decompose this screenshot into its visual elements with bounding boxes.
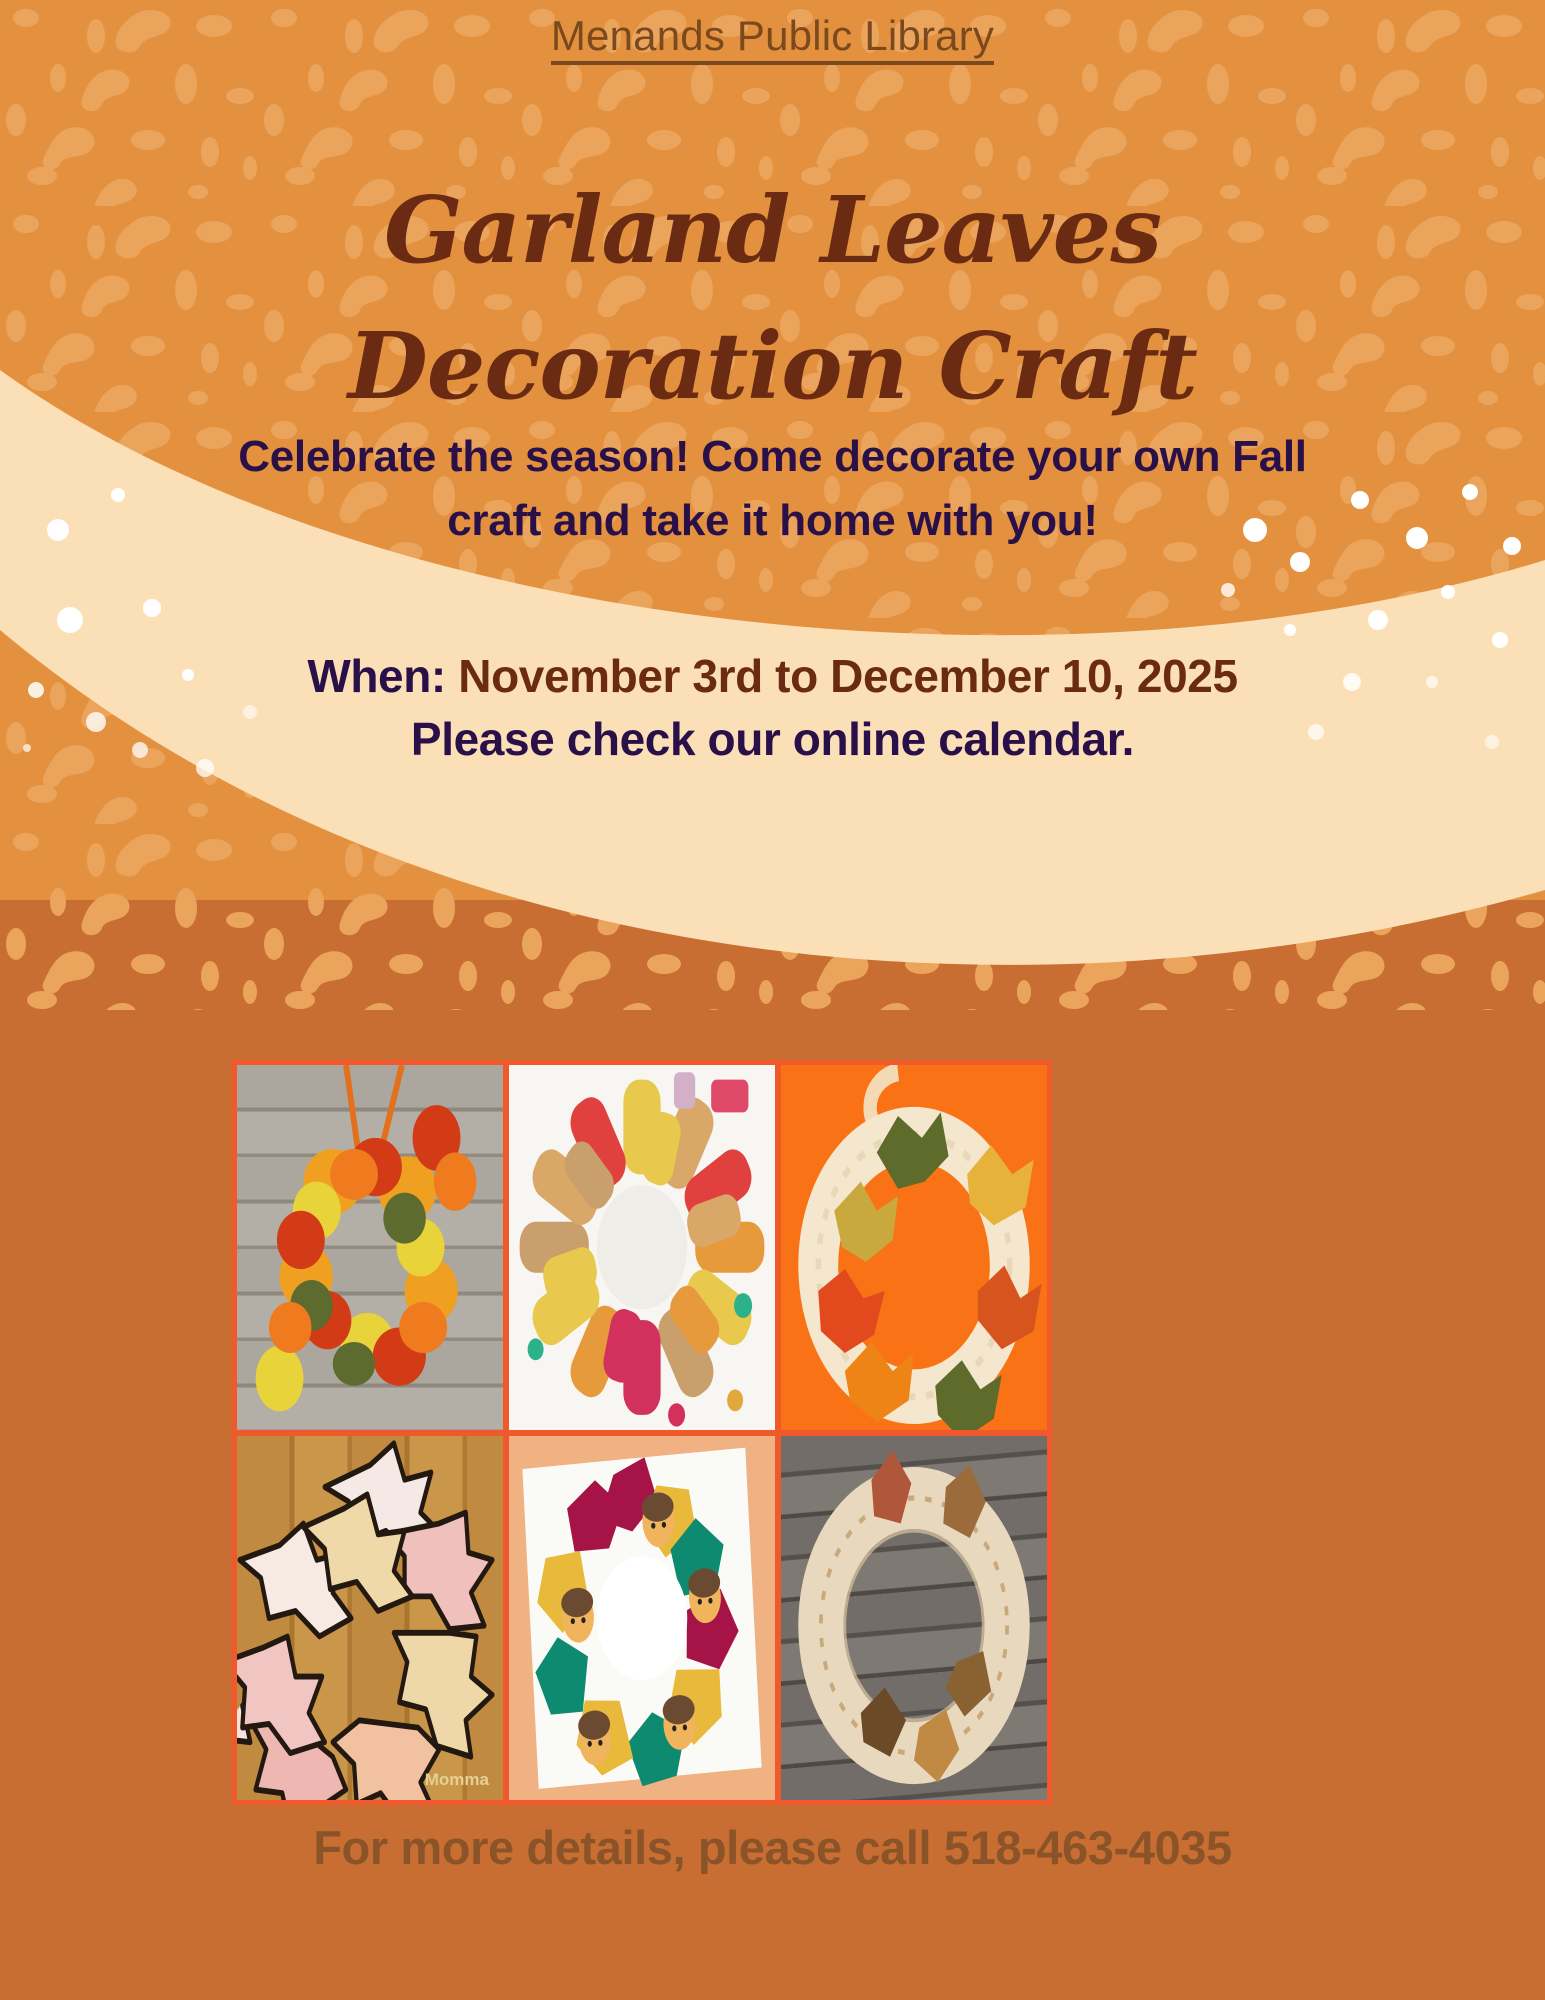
event-when-line: When: November 3rd to December 10, 2025	[60, 648, 1485, 706]
event-blurb: Celebrate the season! Come decorate your…	[200, 425, 1345, 553]
photo-collage: Momma	[232, 1060, 1052, 1805]
photo-construction-paper-wreath	[509, 1436, 775, 1801]
flyer-poster: Menands Public Library Garland Leaves De…	[0, 0, 1545, 2000]
library-name: Menands Public Library	[0, 12, 1545, 60]
poster-content: Menands Public Library Garland Leaves De…	[0, 0, 1545, 2000]
photo-watermark: Momma	[425, 1770, 489, 1790]
photo-handprint-wreath	[509, 1065, 775, 1430]
footer-contact: For more details, please call 518-463-40…	[0, 1820, 1545, 1875]
title-line-2: Decoration Craft	[90, 298, 1455, 434]
photo-colored-leaf-wreath: Momma	[237, 1436, 503, 1801]
page-title: Garland Leaves Decoration Craft	[90, 162, 1455, 434]
library-name-text: Menands Public Library	[551, 12, 994, 65]
photo-paper-plate-wreath-orange	[781, 1065, 1047, 1430]
title-line-1: Garland Leaves	[384, 176, 1161, 284]
photo-plate-wreath-grey-wood	[781, 1436, 1047, 1801]
when-dates: November 3rd to December 10, 2025	[458, 650, 1237, 702]
when-label: When:	[307, 650, 446, 702]
calendar-note: Please check our online calendar.	[60, 712, 1485, 766]
photo-leaf-wreath-wood	[237, 1065, 503, 1430]
